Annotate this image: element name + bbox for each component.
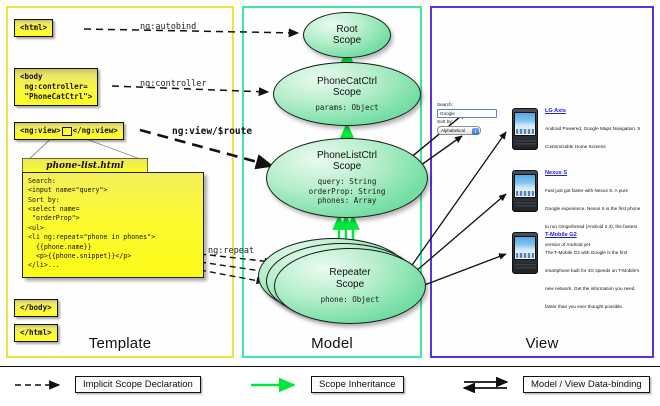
- scope-repeater-props: phone: Object: [321, 295, 380, 305]
- scope-phonecatctrl-title: PhoneCatCtrl Scope: [317, 76, 377, 99]
- panel-view-label: View: [432, 335, 652, 352]
- phone-name-link[interactable]: Nexus S: [545, 170, 641, 176]
- tag-html-close: </html>: [14, 324, 58, 342]
- phone-screen-icon: [514, 112, 536, 136]
- diagram-canvas: Template Model View: [0, 0, 660, 405]
- view-search-form: Search: Google Sort by: Alphabetical ⇕: [437, 102, 499, 135]
- scope-phonecatctrl-props: params: Object: [315, 103, 378, 113]
- phone-keyboard-icon: [515, 200, 536, 208]
- legend-label-binding: Model / View Data-binding: [523, 376, 650, 393]
- phone-thumbnail-icon: [512, 108, 538, 150]
- legend-item-scope-inheritance: Scope Inheritance: [250, 376, 404, 393]
- phone-list-note-code: Search: <input name="query"> Sort by: <s…: [22, 172, 204, 278]
- panel-model-label: Model: [244, 335, 420, 352]
- scope-phonelistctrl: PhoneListCtrl Scope query: String orderP…: [266, 138, 428, 218]
- phone-name-link[interactable]: LG Axis: [545, 108, 641, 114]
- label-ng-autobind: ng:autobind: [140, 22, 196, 32]
- phone-keyboard-icon: [515, 138, 536, 146]
- legend: Implicit Scope Declaration Scope Inherit…: [0, 366, 660, 406]
- dashed-arrow-icon: [14, 377, 68, 393]
- phone-list-item[interactable]: T-Mobile G2 The T-Mobile G2 with Google …: [512, 232, 641, 313]
- legend-label-inheritance: Scope Inheritance: [311, 376, 404, 393]
- scope-repeater-title: Repeater Scope: [329, 267, 370, 290]
- phone-list-item[interactable]: LG Axis Android Powered, Google Maps Nav…: [512, 108, 641, 153]
- legend-item-implicit-scope-declaration: Implicit Scope Declaration: [14, 376, 201, 393]
- legend-item-data-binding: Model / View Data-binding: [462, 376, 650, 393]
- scope-root-title: Root Scope: [333, 24, 361, 47]
- scope-phonecatctrl: PhoneCatCtrl Scope params: Object: [273, 62, 421, 126]
- phone-screen-icon: [514, 174, 536, 198]
- phone-thumbnail-icon: [512, 170, 538, 212]
- phone-list-note: phone-list.html Search: <input name="que…: [22, 158, 204, 278]
- phone-list-note-title: phone-list.html: [22, 158, 148, 172]
- green-arrow-icon: [250, 377, 304, 393]
- phone-snippet: Android Powered, Google Maps Navigation,…: [545, 126, 640, 149]
- phone-info: T-Mobile G2 The T-Mobile G2 with Google …: [545, 232, 641, 313]
- phone-screen-icon: [514, 236, 536, 260]
- tag-ng-view-close: </ng:view>: [73, 126, 118, 135]
- tag-html-open: <html>: [14, 19, 53, 37]
- tag-ng-view: <ng:view></ng:view>: [14, 122, 124, 140]
- label-ng-repeat: ng:repeat: [208, 246, 254, 256]
- scope-phonelistctrl-props: query: String orderProp: String phones: …: [309, 177, 386, 206]
- phone-keyboard-icon: [515, 262, 536, 270]
- sort-label: Sort by:: [437, 119, 499, 126]
- sort-select-value: Alphabetical: [441, 128, 465, 133]
- phone-name-link[interactable]: T-Mobile G2: [545, 232, 641, 238]
- tag-body-open: <body ng:controller= "PhoneCatCtrl">: [14, 68, 98, 106]
- phone-info: LG Axis Android Powered, Google Maps Nav…: [545, 108, 641, 153]
- chevron-updown-icon: ⇕: [472, 128, 479, 135]
- scope-repeater: Repeater Scope phone: Object: [274, 248, 426, 324]
- phone-thumbnail-icon: [512, 232, 538, 274]
- label-ng-controller: ng:controller: [140, 79, 207, 89]
- legend-label-implicit: Implicit Scope Declaration: [75, 376, 201, 393]
- ng-view-placeholder-icon: [62, 127, 72, 136]
- scope-root: Root Scope: [303, 12, 391, 58]
- tag-body-close: </body>: [14, 299, 58, 317]
- sort-select[interactable]: Alphabetical ⇕: [437, 126, 481, 135]
- tag-ng-view-open: <ng:view>: [20, 126, 61, 135]
- label-ng-view-route: ng:view/$route: [172, 126, 252, 137]
- phone-snippet: The T-Mobile G2 with Google is the first…: [545, 250, 639, 309]
- search-input[interactable]: Google: [437, 109, 497, 118]
- double-arrow-icon: [462, 377, 516, 393]
- scope-phonelistctrl-title: PhoneListCtrl Scope: [317, 150, 377, 173]
- search-label: Search:: [437, 102, 499, 109]
